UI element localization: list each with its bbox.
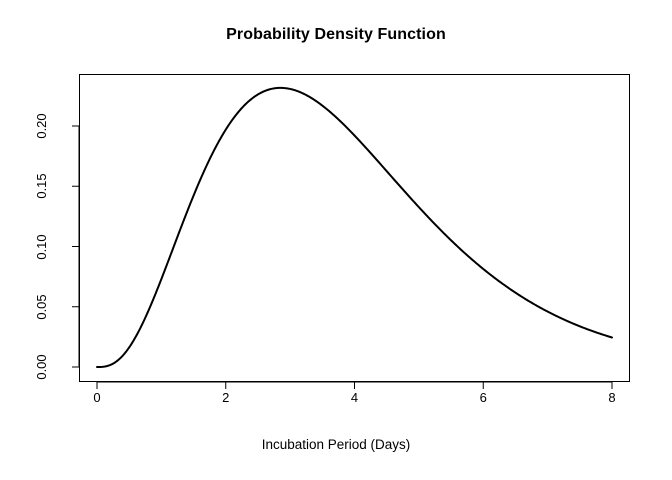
y-axis-tick-label: 0.20 [34, 102, 50, 150]
x-axis-tick-label: 2 [206, 390, 246, 406]
x-axis-title: Incubation Period (Days) [0, 437, 672, 452]
chart-canvas: Probability Density Function 02468 0.000… [0, 0, 672, 480]
x-axis-tick-label: 8 [592, 390, 632, 406]
y-axis-ticks [72, 126, 79, 367]
x-axis-tick-label: 0 [77, 390, 117, 406]
x-axis-tick-label: 6 [463, 390, 503, 406]
x-axis-ticks [97, 382, 612, 389]
x-axis-tick-label: 4 [335, 390, 375, 406]
plot-svg [0, 0, 672, 480]
y-axis-tick-label: 0.05 [34, 283, 50, 331]
y-axis-tick-label: 0.00 [34, 343, 50, 391]
y-axis-tick-label: 0.10 [34, 223, 50, 271]
density-curve-line [97, 88, 612, 367]
y-axis-tick-label: 0.15 [34, 162, 50, 210]
